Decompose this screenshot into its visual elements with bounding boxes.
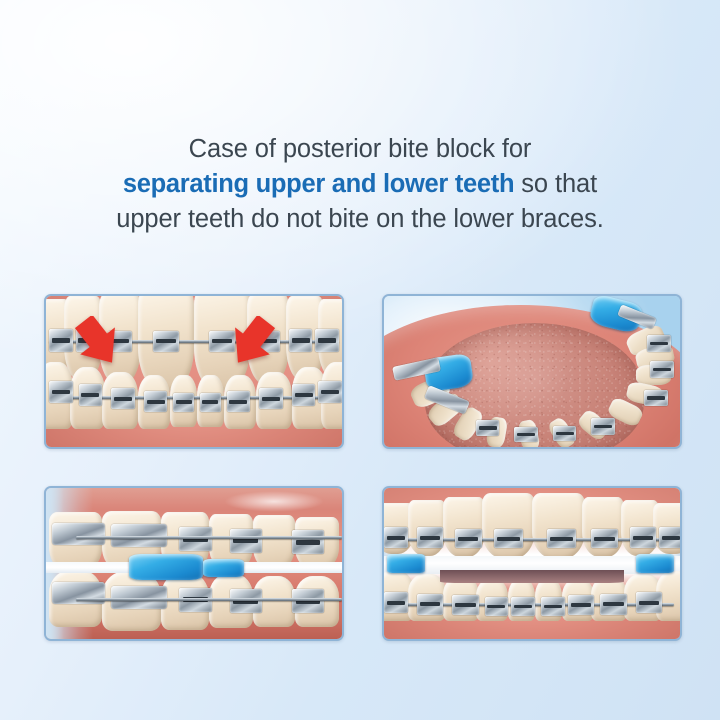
bracket [591,529,618,549]
bite-block-left [387,554,425,572]
bracket [485,597,509,617]
bracket [259,388,283,409]
gum-highlight [224,491,325,512]
bracket [230,529,263,553]
panel-front-open-bite [382,486,682,641]
upper-tooth [532,493,585,559]
bracket [227,391,251,412]
palate-shadow [440,570,624,584]
headline: Case of posterior bite block for separat… [0,132,720,237]
photo-occlusal-arch [384,296,680,447]
bracket [630,527,657,548]
panel-lateral-bite-block [44,486,344,641]
bracket [650,361,674,378]
upper-archwire [76,536,342,539]
bracket [494,529,524,549]
bracket [230,589,263,613]
bracket [547,529,577,549]
headline-line-2: separating upper and lower teeth so that [0,167,720,202]
bracket [636,592,663,613]
molar-band-upper-1 [52,523,105,546]
red-arrow-down-left-icon [222,316,276,368]
bite-block-secondary [203,559,244,577]
bracket [600,594,627,615]
panel-occlusal-bite-blocks [382,294,682,449]
bracket [511,597,535,617]
upper-tooth [482,493,535,559]
bite-block [129,554,203,580]
bracket [200,393,221,413]
bracket [568,595,595,615]
lower-archwire [76,598,342,601]
headline-emphasis: separating upper and lower teeth [123,170,514,198]
bracket [153,331,180,352]
bracket [452,595,479,615]
bracket [455,529,482,549]
bracket [49,381,73,404]
infographic-root: Case of posterior bite block for separat… [0,0,720,720]
upper-tooth [582,497,623,557]
headline-line-2-rest: so that [514,170,597,198]
bracket [79,384,103,407]
red-arrow-down-right-icon [74,316,128,368]
bracket [553,426,577,441]
headline-line-3: upper teeth do not bite on the lower bra… [0,202,720,237]
bracket [318,381,342,404]
bracket [292,530,325,554]
bracket [417,527,444,548]
bracket [292,384,316,407]
bracket [659,527,682,548]
bracket [514,427,538,442]
bracket [384,527,408,548]
bracket [289,329,313,352]
photo-lateral-braces [46,488,342,639]
bracket [173,393,194,413]
bracket [292,589,325,613]
bracket [49,329,73,352]
bracket [417,594,444,615]
photo-frontal-open-bite [384,488,680,639]
panel-front-arrows [44,294,344,449]
bracket [591,418,615,435]
panel-grid [44,294,676,640]
bracket [647,335,671,352]
bracket [476,420,500,437]
bracket [111,388,135,409]
photo-frontal-braces [46,296,342,447]
headline-line-1: Case of posterior bite block for [0,132,720,167]
bracket [541,597,565,617]
upper-tooth [443,497,484,557]
bite-block-right [636,554,674,572]
bracket [144,391,168,412]
bracket [179,527,212,551]
bracket [384,592,408,613]
bracket [315,329,339,352]
bracket [644,390,668,407]
